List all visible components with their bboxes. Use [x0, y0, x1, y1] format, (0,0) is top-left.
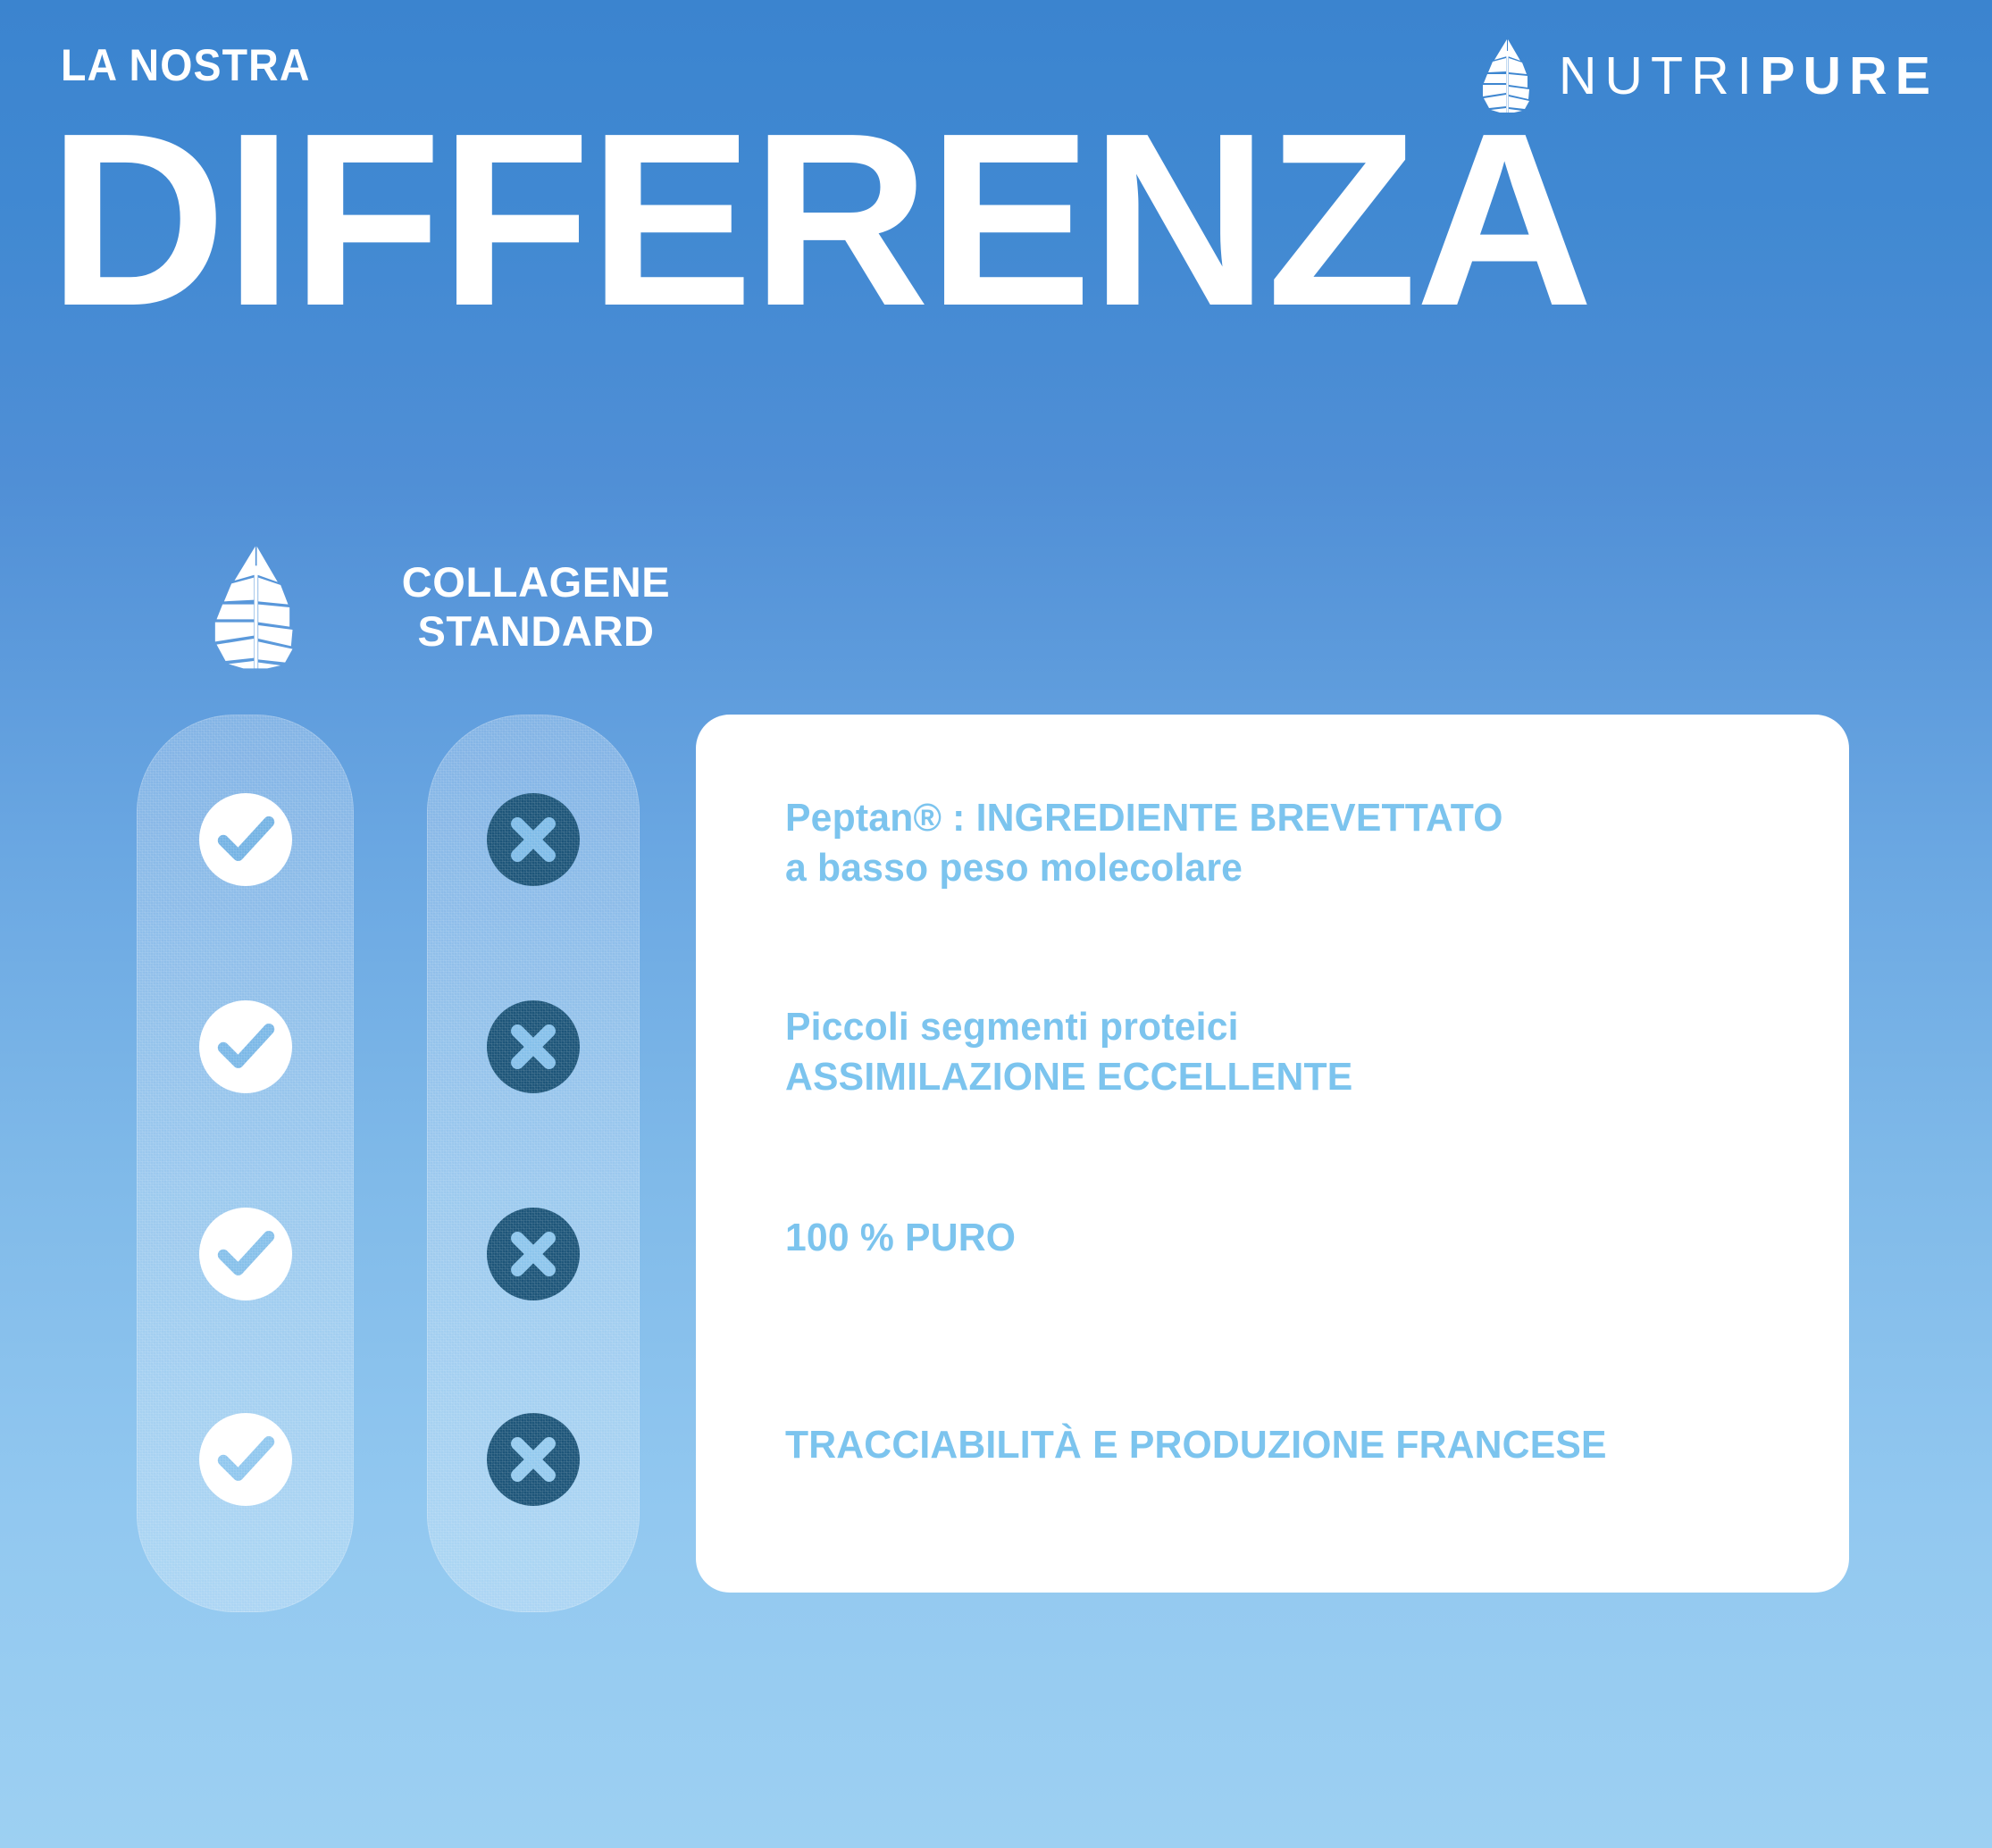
- benefit-line: Piccoli segmenti proteici: [785, 1002, 1782, 1052]
- check-circle-icon: [199, 1000, 292, 1093]
- benefits-card: Peptan® : INGREDIENTE BREVETTATO a basso…: [696, 715, 1849, 1593]
- benefit-line: Peptan® : INGREDIENTE BREVETTATO: [785, 793, 1782, 843]
- check-circle-icon: [199, 1413, 292, 1506]
- page-title: DIFFERENZA: [48, 114, 1951, 326]
- column-header-standard-line1: COLLAGENE: [402, 558, 670, 606]
- benefit-line: TRACCIABILITÀ E PRODUZIONE FRANCESE: [785, 1420, 1782, 1470]
- poster-canvas: LA NOSTRA NUTRIPURE DIFFERENZA: [0, 0, 1992, 1848]
- column-header-standard: COLLAGENE STANDARD: [389, 558, 683, 656]
- cross-circle-icon: [487, 1208, 580, 1300]
- benefit-line: a basso peso molecolare: [785, 843, 1782, 893]
- benefit-line: ASSIMILAZIONE ECCELLENTE: [785, 1052, 1782, 1102]
- column-ours-pill: [137, 715, 354, 1612]
- eyebrow-text: LA NOSTRA: [61, 43, 311, 88]
- benefit-line: 100 % PURO: [785, 1213, 1782, 1263]
- check-circle-icon: [199, 793, 292, 886]
- leaf-icon: [210, 545, 304, 670]
- column-headers: COLLAGENE STANDARD: [134, 536, 724, 679]
- benefit-item: 100 % PURO: [785, 1213, 1782, 1263]
- benefit-item: TRACCIABILITÀ E PRODUZIONE FRANCESE: [785, 1420, 1782, 1470]
- benefit-item: Peptan® : INGREDIENTE BREVETTATO a basso…: [785, 793, 1782, 894]
- brand-wordmark: NUTRIPURE: [1559, 50, 1938, 103]
- cross-circle-icon: [487, 793, 580, 886]
- benefit-item: Piccoli segmenti proteici ASSIMILAZIONE …: [785, 1002, 1782, 1103]
- cross-circle-icon: [487, 1413, 580, 1506]
- brand-wordmark-thick: PURE: [1760, 46, 1938, 105]
- column-standard-pill: [427, 715, 640, 1612]
- check-circle-icon: [199, 1208, 292, 1300]
- cross-circle-icon: [487, 1000, 580, 1093]
- column-header-standard-line2: STANDARD: [417, 607, 654, 655]
